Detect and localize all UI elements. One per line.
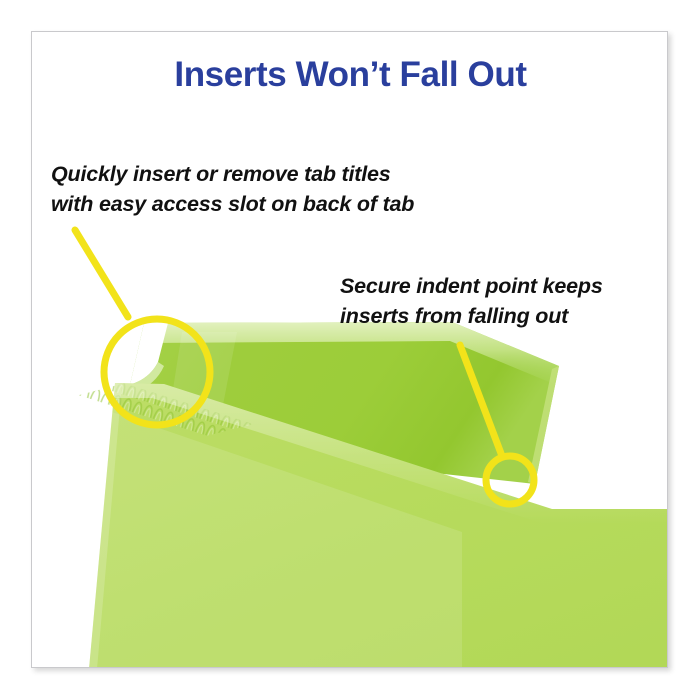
- product-feature-card: Inserts Won’t Fall Out Quickly insert or…: [31, 31, 668, 668]
- callout-label-left: Quickly insert or remove tab titles with…: [51, 160, 414, 219]
- image-canvas: Inserts Won’t Fall Out Quickly insert or…: [0, 0, 700, 700]
- divider-illustration: [32, 32, 668, 668]
- page-title: Inserts Won’t Fall Out: [32, 56, 668, 95]
- product-photo: [32, 32, 668, 668]
- callout-label-right: Secure indent point keeps inserts from f…: [340, 272, 603, 331]
